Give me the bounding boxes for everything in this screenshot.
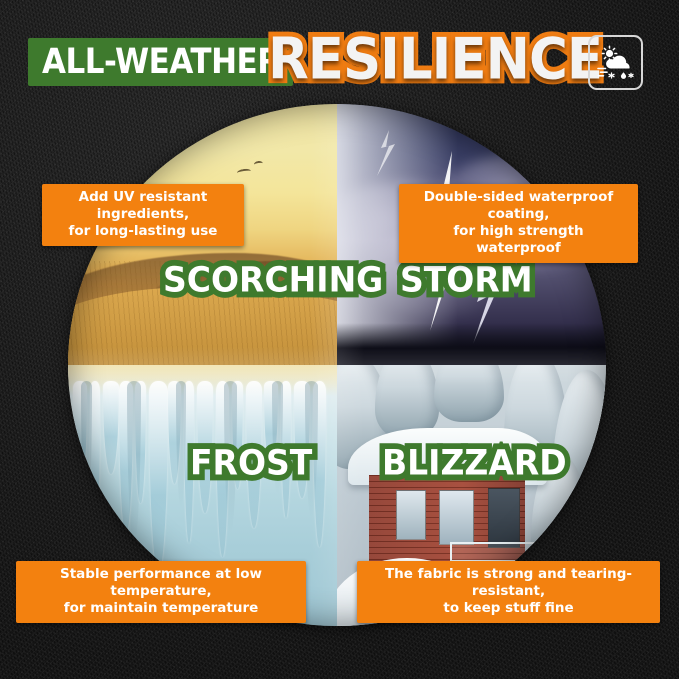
bird-icon bbox=[237, 168, 252, 176]
cabin-window bbox=[439, 490, 474, 545]
callout-blizzard: The fabric is strong and tearing-resista… bbox=[357, 561, 660, 623]
callout-frost: Stable performance at low temperature, f… bbox=[16, 561, 306, 623]
quadrant-label-storm: STORM bbox=[400, 262, 533, 297]
bird-icon bbox=[253, 161, 263, 168]
page-title-part1: ALL-WEATHER bbox=[42, 45, 281, 80]
snow-tree bbox=[434, 365, 504, 422]
quadrant-label-frost: FROST bbox=[190, 445, 312, 480]
callout-scorching: Add UV resistant ingredients, for long-l… bbox=[42, 184, 244, 246]
weather-collage-circle bbox=[68, 104, 606, 626]
callout-storm: Double-sided waterproof coating, for hig… bbox=[399, 184, 638, 263]
poster-canvas: ALL-WEATHER RESILIENCE bbox=[0, 0, 679, 679]
sun-cloud-rain-snow-icon bbox=[596, 44, 636, 82]
quadrant-label-blizzard: BLIZZARD bbox=[382, 445, 567, 480]
storm-treeline bbox=[337, 323, 606, 365]
page-title-part2: RESILIENCE bbox=[268, 23, 602, 96]
cabin-window bbox=[396, 490, 426, 540]
quadrant-label-scorching: SCORCHING bbox=[163, 262, 383, 297]
cabin-door bbox=[488, 488, 520, 548]
weather-badge bbox=[588, 35, 643, 90]
title-primary-banner: ALL-WEATHER bbox=[28, 38, 293, 86]
header: ALL-WEATHER RESILIENCE bbox=[0, 0, 679, 104]
lightning-bolt-icon bbox=[369, 130, 403, 176]
